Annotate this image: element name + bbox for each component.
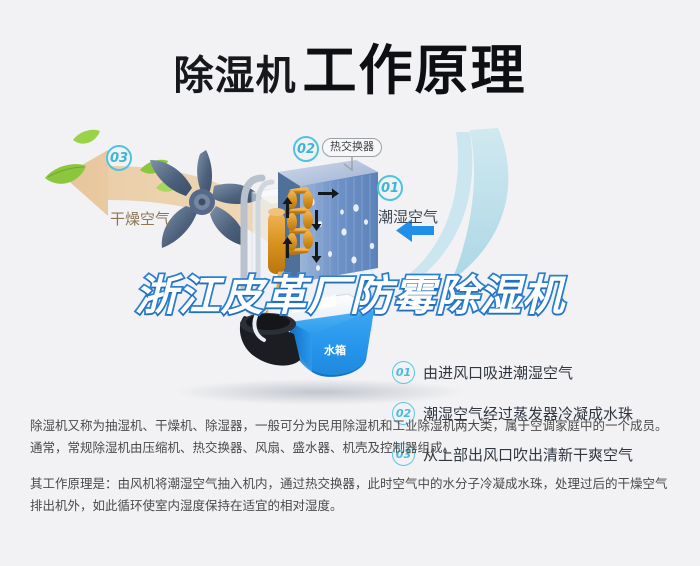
dehumidifier-diagram: 03 02 01 热交换器 干燥空气 潮湿空气 水箱 01 由进风口吸进潮湿空气… — [0, 120, 700, 410]
diagram-badge-03: 03 — [106, 145, 132, 171]
page-title-part2: 工作原理 — [303, 39, 527, 102]
infographic-page: 除湿机工作原理 — [0, 0, 700, 566]
step-item-01: 01 由进风口吸进潮湿空气 — [392, 360, 692, 384]
diagram-badge-01: 01 — [377, 175, 403, 201]
diagram-badge-02: 02 — [293, 136, 319, 162]
page-title-part1: 除湿机 — [174, 53, 297, 99]
step-text-01: 由进风口吸进潮湿空气 — [423, 362, 573, 383]
compressor-base — [240, 313, 300, 366]
page-title: 除湿机工作原理 — [0, 26, 700, 105]
heat-exchanger-callout: 热交换器 — [322, 138, 382, 157]
step-number-01: 01 — [392, 361, 415, 384]
label-water-tank: 水箱 — [324, 342, 346, 358]
label-dry-air: 干燥空气 — [110, 208, 170, 229]
body-copy: 除湿机又称为抽湿机、干燥机、除湿器，一般可分为民用除湿机和工业除湿机两大类，属于… — [30, 415, 670, 523]
label-humid-air: 潮湿空气 — [378, 206, 438, 227]
body-paragraph-1: 除湿机又称为抽湿机、干燥机、除湿器，一般可分为民用除湿机和工业除湿机两大类，属于… — [30, 415, 670, 459]
body-paragraph-2: 其工作原理是：由风机将潮湿空气抽入机内，通过热交换器，此时空气中的水分子冷凝成水… — [30, 473, 670, 517]
